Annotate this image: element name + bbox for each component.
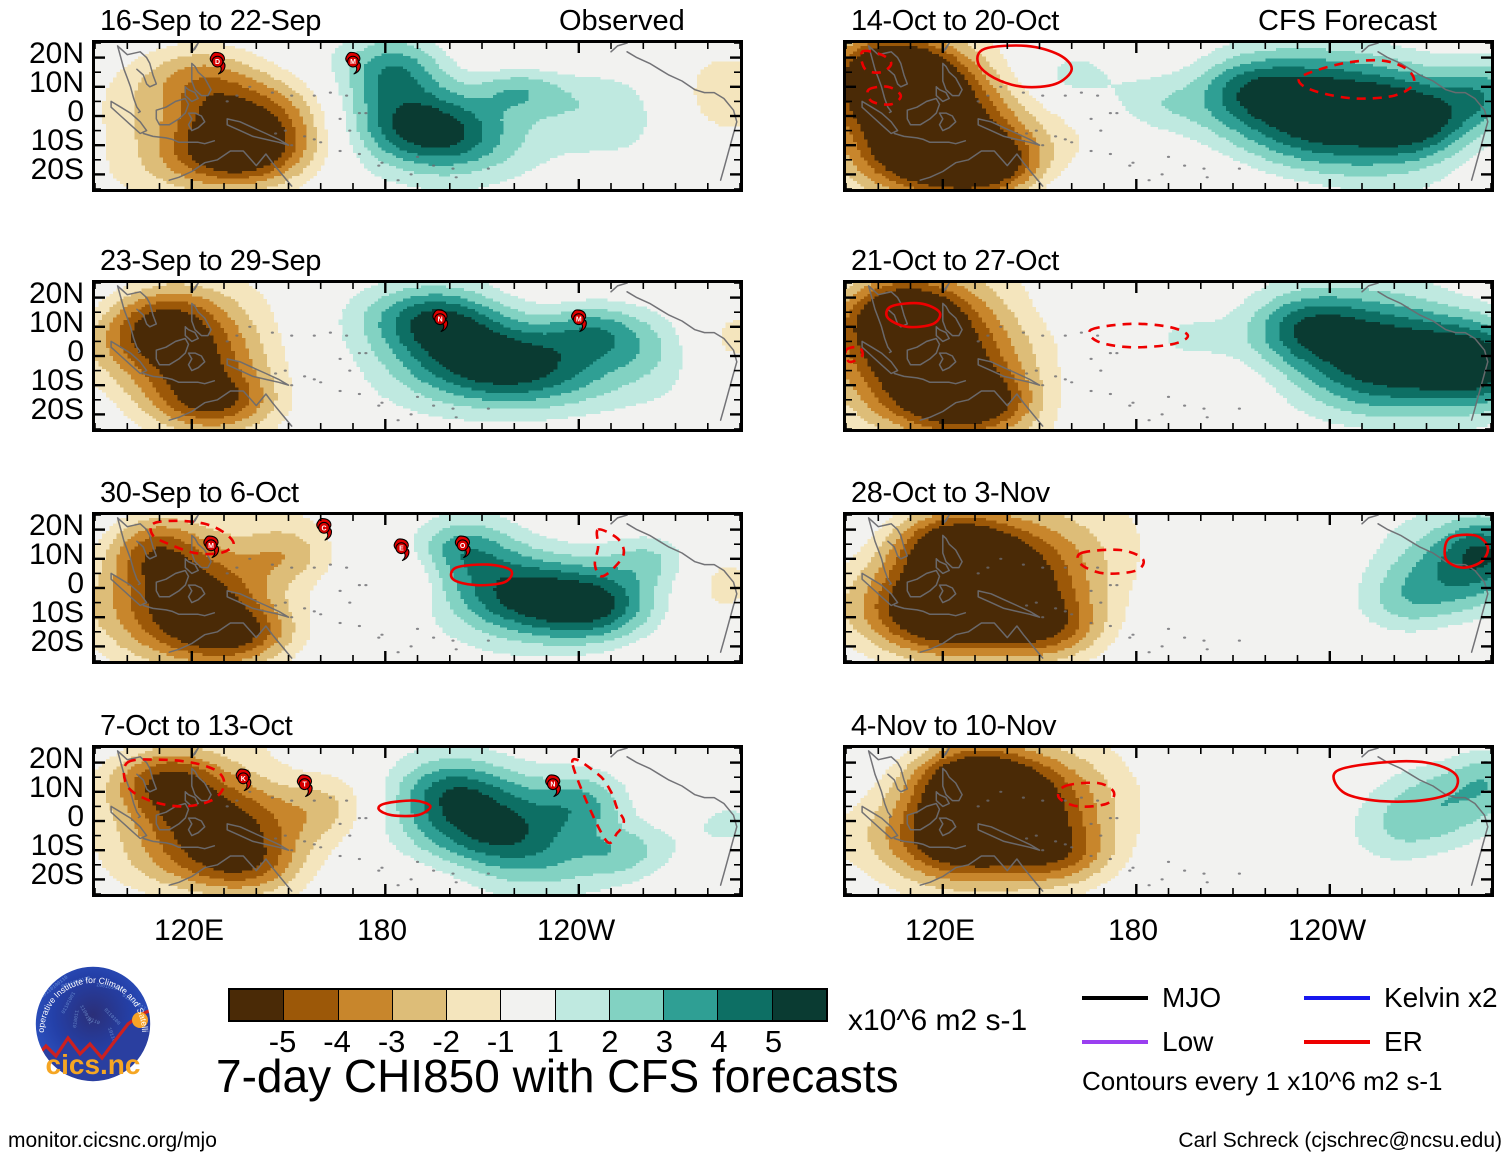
map-fcst-3[interactable] <box>843 512 1494 664</box>
svg-text:M: M <box>350 59 356 66</box>
y-tick-20N: 20N <box>0 744 84 774</box>
colorbar-cell-3 <box>393 990 447 1020</box>
map-fcst-2[interactable] <box>843 280 1494 432</box>
y-tick-20S: 20S <box>0 860 84 890</box>
panel-title-obs-2: 23-Sep to 29-Sep <box>100 247 321 276</box>
legend-item-mjo: MJO <box>1082 984 1221 1012</box>
footer-credit: Carl Schreck (cjschrec@ncsu.edu) <box>1178 1130 1502 1151</box>
logo-wordmark: cics.nc <box>46 1049 141 1080</box>
y-tick-20S: 20S <box>0 155 84 185</box>
map-obs-1[interactable]: D M <box>92 40 743 192</box>
legend-label-mjo: MJO <box>1162 984 1221 1012</box>
svg-text:T: T <box>302 782 307 789</box>
svg-text:C: C <box>321 525 326 532</box>
panel-title-fcst-4: 4-Nov to 10-Nov <box>851 712 1056 741</box>
contour-interval-note: Contours every 1 x10^6 m2 s-1 <box>1082 1068 1442 1094</box>
colorbar-cell-5 <box>501 990 555 1020</box>
legend-swatch-kelvin <box>1304 996 1370 1000</box>
legend-item-low: Low <box>1082 1028 1213 1056</box>
panel-title-fcst-1: 14-Oct to 20-Oct <box>851 7 1059 36</box>
svg-text:D: D <box>215 59 220 66</box>
y-tick-20N: 20N <box>0 39 84 69</box>
panel-title-fcst-3: 28-Oct to 3-Nov <box>851 479 1050 508</box>
legend-swatch-er <box>1304 1040 1370 1044</box>
x-tick-left-120E: 120E <box>119 916 259 946</box>
y-tick-0: 0 <box>0 97 84 127</box>
legend-swatch-mjo <box>1082 996 1148 1000</box>
legend: MJO Kelvin x2 Low ER <box>1082 984 1502 1066</box>
y-tick-0: 0 <box>0 569 84 599</box>
map-fcst-1[interactable] <box>843 40 1494 192</box>
x-tick-right-120W: 120W <box>1257 916 1397 946</box>
colorbar-cell-0 <box>230 990 284 1020</box>
column-header-right: CFS Forecast <box>1258 7 1437 36</box>
svg-text:M: M <box>208 543 214 550</box>
colorbar-cell-9 <box>718 990 772 1020</box>
svg-text:K: K <box>241 776 246 783</box>
map-obs-2[interactable]: N M <box>92 280 743 432</box>
panel-title-obs-1: 16-Sep to 22-Sep <box>100 7 321 36</box>
legend-swatch-low <box>1082 1040 1148 1044</box>
svg-text:E: E <box>399 546 404 553</box>
map-obs-4[interactable]: K T N <box>92 745 743 897</box>
y-tick-20S: 20S <box>0 627 84 657</box>
column-header-left: Observed <box>559 7 685 36</box>
legend-label-er: ER <box>1384 1028 1423 1056</box>
x-tick-right-120E: 120E <box>870 916 1010 946</box>
map-fcst-4[interactable] <box>843 745 1494 897</box>
y-tick-20N: 20N <box>0 511 84 541</box>
map-obs-3[interactable]: M C E O <box>92 512 743 664</box>
colorbar: -5-4-3-2-112345 <box>228 988 828 1022</box>
y-tick-20S: 20S <box>0 395 84 425</box>
panel-title-obs-4: 7-Oct to 13-Oct <box>100 712 292 741</box>
cics-nc-logo: 10110100110 0110010110 1001011001 011010… <box>18 962 168 1092</box>
y-tick-10N: 10N <box>0 308 84 338</box>
svg-text:N: N <box>550 782 555 789</box>
page-title: 7-day CHI850 with CFS forecasts <box>216 1053 899 1099</box>
panel-title-fcst-2: 21-Oct to 27-Oct <box>851 247 1059 276</box>
colorbar-cell-4 <box>447 990 501 1020</box>
colorbar-cell-10 <box>773 990 826 1020</box>
legend-label-low: Low <box>1162 1028 1213 1056</box>
y-tick-0: 0 <box>0 337 84 367</box>
colorbar-cell-8 <box>664 990 718 1020</box>
y-tick-10N: 10N <box>0 540 84 570</box>
footer-url[interactable]: monitor.cicsnc.org/mjo <box>8 1130 217 1151</box>
y-tick-10N: 10N <box>0 773 84 803</box>
colorbar-cell-2 <box>339 990 393 1020</box>
legend-label-kelvin: Kelvin x2 <box>1384 984 1498 1012</box>
y-tick-10S: 10S <box>0 831 84 861</box>
colorbar-cell-6 <box>556 990 610 1020</box>
svg-text:O: O <box>460 543 466 550</box>
colorbar-cell-1 <box>284 990 338 1020</box>
svg-text:M: M <box>576 317 582 324</box>
y-tick-0: 0 <box>0 802 84 832</box>
y-tick-10N: 10N <box>0 68 84 98</box>
svg-text:N: N <box>438 317 443 324</box>
x-tick-left-120W: 120W <box>506 916 646 946</box>
colorbar-units-label: x10^6 m2 s-1 <box>848 1006 1027 1036</box>
panel-title-obs-3: 30-Sep to 6-Oct <box>100 479 299 508</box>
y-tick-10S: 10S <box>0 598 84 628</box>
y-tick-10S: 10S <box>0 126 84 156</box>
y-tick-20N: 20N <box>0 279 84 309</box>
x-tick-right-180: 180 <box>1063 916 1203 946</box>
x-tick-left-180: 180 <box>312 916 452 946</box>
legend-item-er: ER <box>1304 1028 1423 1056</box>
legend-item-kelvin: Kelvin x2 <box>1304 984 1498 1012</box>
colorbar-cell-7 <box>610 990 664 1020</box>
y-tick-10S: 10S <box>0 366 84 396</box>
colorbar-strip <box>228 988 828 1022</box>
